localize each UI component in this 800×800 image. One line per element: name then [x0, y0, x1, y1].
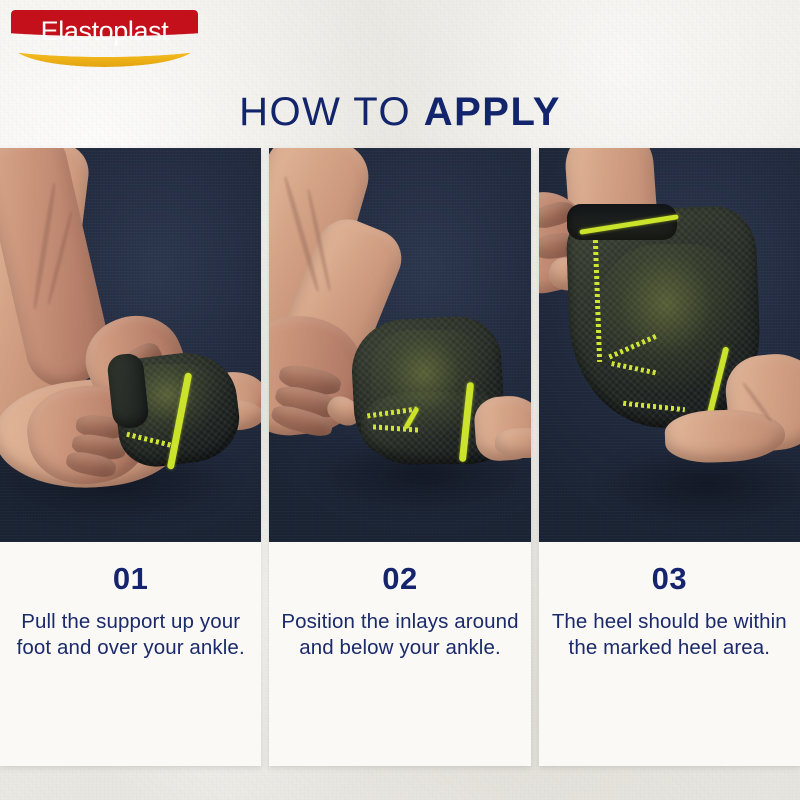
- step-number-03: 03: [539, 562, 800, 596]
- step-caption-02: 02 Position the inlays around and below …: [269, 542, 530, 766]
- step-caption-03: 03 The heel should be within the marked …: [539, 542, 800, 766]
- step-text-02: Position the inlays around and below you…: [269, 609, 530, 661]
- page-title: HOW TO APPLY: [0, 88, 800, 136]
- step-photo-02: [269, 148, 530, 542]
- step-text-03: The heel should be within the marked hee…: [539, 609, 800, 661]
- page-title-bold: APPLY: [424, 90, 561, 134]
- step-card-01: 01 Pull the support up your foot and ove…: [0, 148, 261, 766]
- step-caption-01: 01 Pull the support up your foot and ove…: [0, 542, 261, 766]
- toes: [495, 428, 530, 458]
- logo-wordmark: Elastoplast: [11, 16, 198, 46]
- step-text-01: Pull the support up your foot and over y…: [0, 609, 261, 661]
- page-title-light: HOW TO: [239, 90, 424, 134]
- sleeve-knit-sheen: [599, 244, 749, 394]
- step-card-02: 02 Position the inlays around and below …: [269, 148, 530, 766]
- step-number-01: 01: [0, 562, 261, 596]
- step-photo-03: [539, 148, 800, 542]
- poster-root: Elastoplast HOW TO APPLY: [0, 0, 800, 800]
- step-photo-01: [0, 148, 261, 542]
- elastoplast-logo: Elastoplast: [11, 10, 198, 67]
- steps-grid: 01 Pull the support up your foot and ove…: [0, 148, 800, 766]
- step-card-03: 03 The heel should be within the marked …: [539, 148, 800, 766]
- logo-gold-swoosh: [13, 46, 196, 67]
- step-number-02: 02: [269, 562, 530, 596]
